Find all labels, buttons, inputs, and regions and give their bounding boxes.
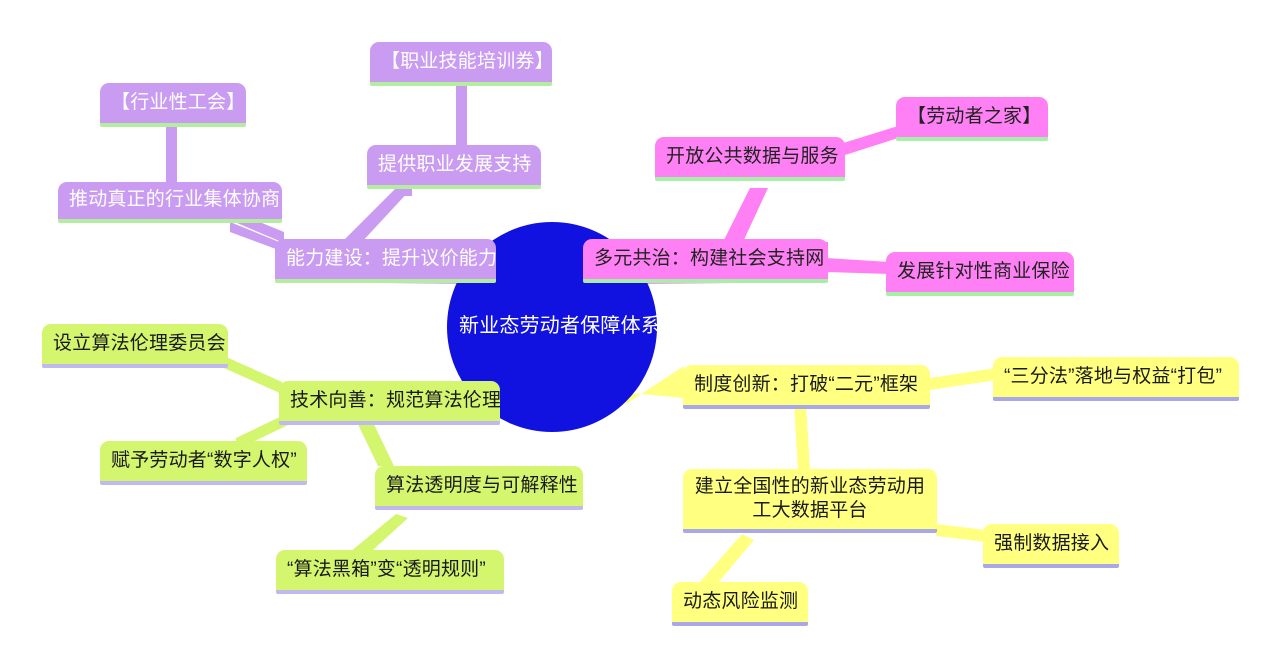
connector-cogovernance-to-insurance — [826, 258, 890, 274]
node-industry-union[interactable]: 【行业性工会】 — [100, 83, 246, 127]
center-node-label: 新业态劳动者保障体系 — [459, 315, 645, 339]
node-national-bigdata-platform-label: 建立全国性的新业态劳动用 工大数据平台 — [694, 475, 926, 523]
node-institutional-innovation-label: 制度创新：打破“二元”框架 — [694, 374, 919, 396]
node-industry-union-label: 【行业性工会】 — [111, 92, 235, 114]
connector-bigdata-to-mandatory-access — [936, 524, 986, 542]
node-digital-human-rights[interactable]: 赋予劳动者“数字人权” — [100, 441, 307, 485]
node-national-bigdata-platform[interactable]: 建立全国性的新业态劳动用 工大数据平台 — [683, 469, 937, 533]
node-blackbox-to-transparent-rules-label: “算法黑箱”变“透明规则” — [287, 559, 493, 581]
connector-capability-to-career-support — [344, 190, 410, 244]
node-dynamic-risk-monitoring[interactable]: 动态风险监测 — [672, 582, 808, 626]
node-commercial-insurance-label: 发展针对性商业保险 — [897, 261, 1063, 283]
node-algorithm-transparency-label: 算法透明度与可解释性 — [386, 475, 572, 497]
node-career-development-support[interactable]: 提供职业发展支持 — [367, 145, 541, 189]
node-dynamic-risk-monitoring-label: 动态风险监测 — [683, 591, 797, 613]
node-algorithm-transparency[interactable]: 算法透明度与可解释性 — [375, 466, 583, 510]
connector-institutional-to-bigdata — [794, 404, 810, 470]
node-open-public-data[interactable]: 开放公共数据与服务 — [655, 137, 845, 181]
node-institutional-innovation[interactable]: 制度创新：打破“二元”框架 — [683, 365, 930, 409]
connector-capability-to-career-support-2 — [394, 188, 412, 196]
node-ethics-committee-label: 设立算法伦理委员会 — [53, 333, 217, 355]
node-national-bigdata-platform-line1: 建立全国性的新业态劳动用 — [695, 476, 925, 497]
node-workers-home-label: 【劳动者之家】 — [907, 106, 1037, 128]
node-mandatory-data-access[interactable]: 强制数据接入 — [983, 524, 1119, 568]
node-training-voucher-label: 【职业技能培训券】 — [381, 51, 541, 73]
node-career-development-support-label: 提供职业发展支持 — [378, 154, 530, 176]
node-collective-bargaining[interactable]: 推动真正的行业集体协商 — [58, 182, 282, 223]
node-co-governance[interactable]: 多元共治：构建社会支持网 — [583, 239, 828, 283]
node-commercial-insurance[interactable]: 发展针对性商业保险 — [886, 252, 1074, 296]
mind-map-canvas: 新业态劳动者保障体系 能力建设：提升议价能力 推动真正的行业集体协商 【行业性工… — [0, 0, 1277, 666]
node-blackbox-to-transparent-rules[interactable]: “算法黑箱”变“透明规则” — [276, 550, 504, 594]
node-national-bigdata-platform-line2: 工大数据平台 — [752, 500, 867, 521]
connector-open-data-to-workers-home — [840, 126, 898, 156]
node-capability-building[interactable]: 能力建设：提升议价能力 — [275, 239, 496, 283]
node-collective-bargaining-label: 推动真正的行业集体协商 — [69, 189, 271, 211]
connector-collective-bargaining-to-union — [166, 127, 177, 185]
node-tech-ethics[interactable]: 技术向善：规范算法伦理 — [279, 381, 500, 425]
node-three-way-classification[interactable]: “三分法”落地与权益“打包” — [993, 357, 1239, 401]
node-three-way-classification-label: “三分法”落地与权益“打包” — [1004, 366, 1228, 388]
node-digital-human-rights-label: 赋予劳动者“数字人权” — [111, 450, 296, 472]
connector-career-support-to-voucher — [456, 86, 467, 148]
node-workers-home[interactable]: 【劳动者之家】 — [896, 97, 1048, 141]
node-ethics-committee[interactable]: 设立算法伦理委员会 — [42, 324, 228, 368]
node-open-public-data-label: 开放公共数据与服务 — [666, 146, 834, 168]
connector-institutional-to-three-way — [930, 368, 996, 390]
node-co-governance-label: 多元共治：构建社会支持网 — [594, 248, 817, 270]
connector-tech-ethics-to-ethics-committee — [224, 356, 282, 394]
node-training-voucher[interactable]: 【职业技能培训券】 — [370, 42, 552, 86]
node-tech-ethics-label: 技术向善：规范算法伦理 — [290, 390, 489, 412]
node-mandatory-data-access-label: 强制数据接入 — [994, 533, 1108, 555]
connector-cogovernance-to-open-data — [724, 188, 768, 244]
node-capability-building-label: 能力建设：提升议价能力 — [286, 248, 485, 270]
